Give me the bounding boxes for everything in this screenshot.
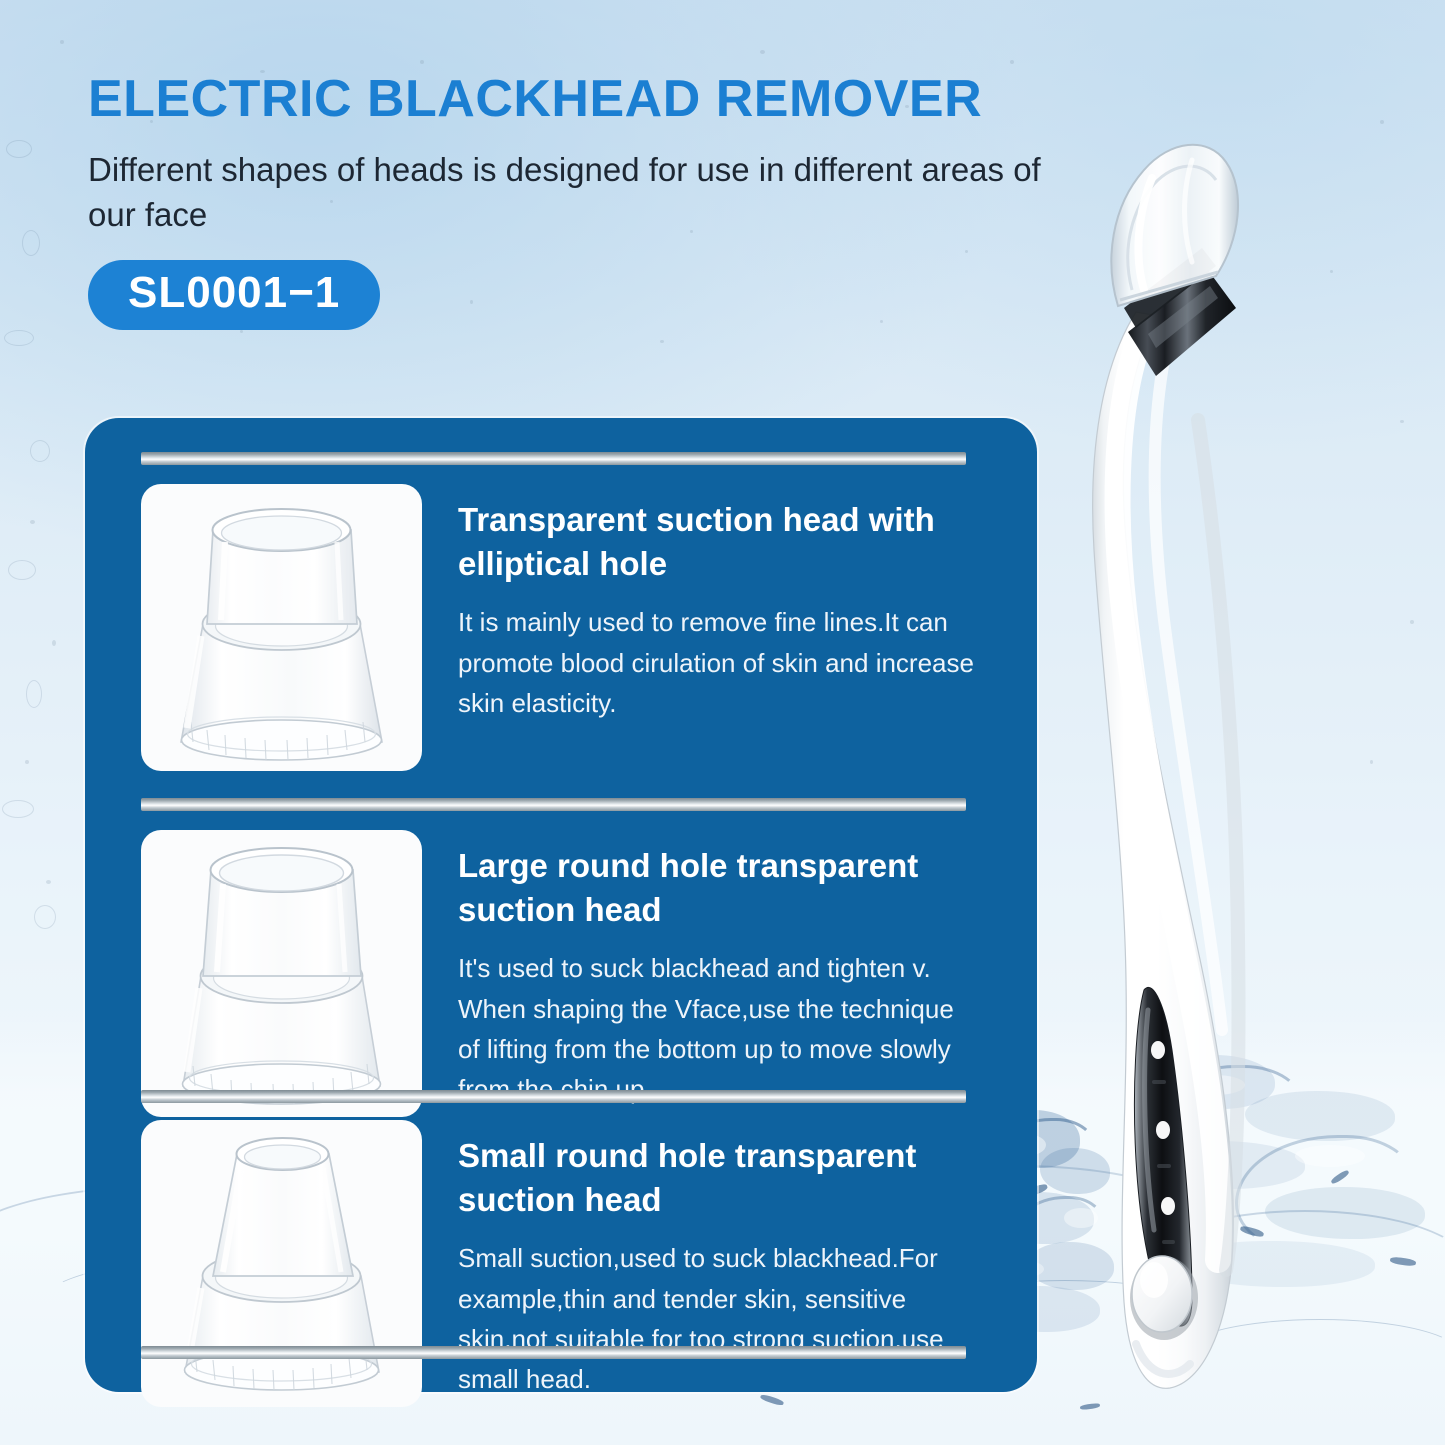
features-panel: Transparent suction head with elliptical…	[85, 418, 1037, 1392]
indicator-light	[1161, 1197, 1175, 1215]
feature-text-2: Large round hole transparent suction hea…	[458, 830, 981, 1117]
page-subtitle: Different shapes of heads is designed fo…	[88, 147, 1048, 238]
glass-suction-head-icon	[141, 830, 422, 1117]
feature-row-2: Large round hole transparent suction hea…	[141, 830, 981, 1117]
suction-head-thumbnail-3[interactable]	[141, 1120, 422, 1407]
feature-row-1: Transparent suction head with elliptical…	[141, 484, 981, 771]
divider-bar-2	[141, 1090, 966, 1103]
feature-body: It is mainly used to remove fine lines.I…	[458, 602, 981, 723]
feature-heading: Transparent suction head with elliptical…	[458, 498, 981, 586]
feature-text-3: Small round hole transparent suction hea…	[458, 1120, 981, 1407]
model-badge: SL0001−1	[88, 260, 380, 330]
page-title: ELECTRIC BLACKHEAD REMOVER	[88, 72, 1098, 127]
divider-bar-top	[141, 452, 966, 465]
glass-suction-head-icon	[141, 484, 422, 771]
blackhead-remover-device-illustration	[1040, 120, 1360, 1410]
transparent-suction-nozzle	[1111, 145, 1238, 306]
glass-suction-head-icon	[141, 1120, 422, 1407]
indicator-light	[1151, 1041, 1165, 1059]
product-device-image	[1040, 120, 1360, 1410]
suction-head-image-small-round	[141, 1120, 422, 1407]
divider-bar-bottom	[141, 1346, 966, 1359]
header: ELECTRIC BLACKHEAD REMOVER Different sha…	[88, 72, 1098, 330]
feature-body: It's used to suck blackhead and tighten …	[458, 948, 981, 1109]
divider-bar-1	[141, 798, 966, 811]
feature-body: Small suction,used to suck blackhead.For…	[458, 1238, 981, 1399]
power-button	[1130, 1256, 1198, 1340]
suction-head-image-elliptical	[141, 484, 422, 771]
feature-text-1: Transparent suction head with elliptical…	[458, 484, 981, 771]
feature-heading: Large round hole transparent suction hea…	[458, 844, 981, 932]
suction-head-thumbnail-2[interactable]	[141, 830, 422, 1117]
suction-head-image-large-round	[141, 830, 422, 1117]
indicator-light	[1156, 1121, 1170, 1139]
feature-row-3: Small round hole transparent suction hea…	[141, 1120, 981, 1407]
suction-head-thumbnail-1[interactable]	[141, 484, 422, 771]
feature-heading: Small round hole transparent suction hea…	[458, 1134, 981, 1222]
